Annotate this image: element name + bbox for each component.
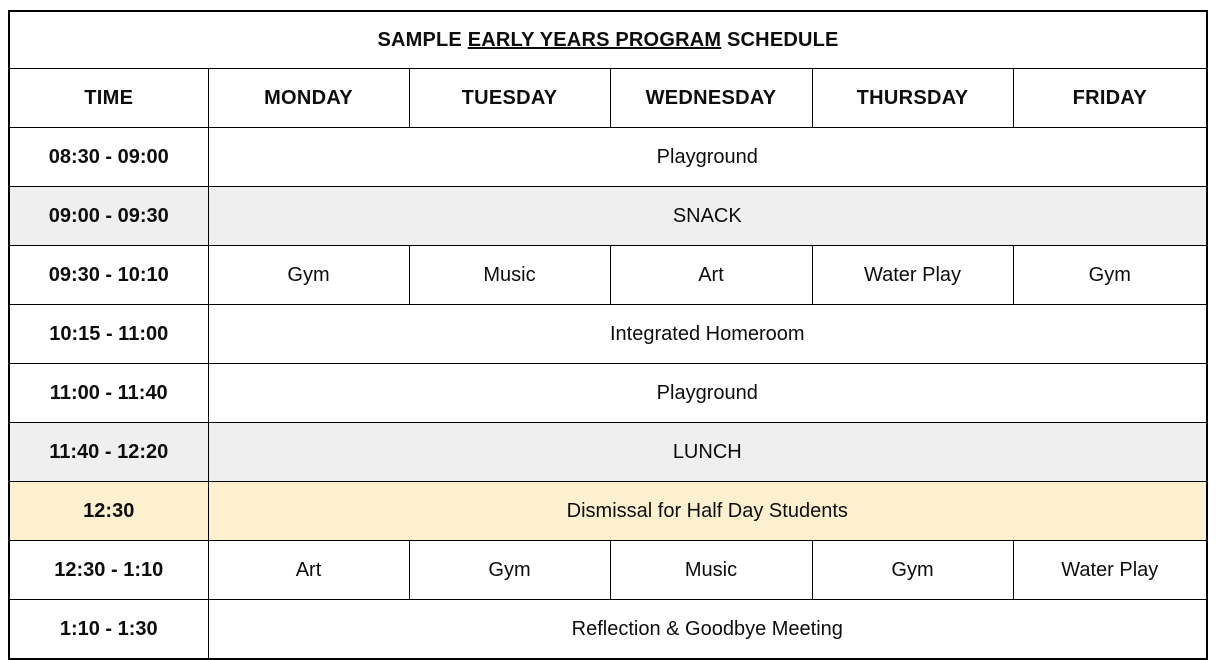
schedule-row: 08:30 - 09:00Playground <box>9 128 1207 187</box>
activity-cell-all-days: Reflection & Goodbye Meeting <box>208 600 1207 660</box>
schedule-container: SAMPLE EARLY YEARS PROGRAM SCHEDULE TIME… <box>8 10 1206 660</box>
schedule-row: 12:30 - 1:10ArtGymMusicGymWater Play <box>9 541 1207 600</box>
activity-cell-friday: Water Play <box>1013 541 1207 600</box>
schedule-row: 12:30Dismissal for Half Day Students <box>9 482 1207 541</box>
time-slot-label: 09:30 - 10:10 <box>9 246 208 305</box>
time-slot-label: 12:30 <box>9 482 208 541</box>
time-slot-label: 1:10 - 1:30 <box>9 600 208 660</box>
time-slot-label: 09:00 - 09:30 <box>9 187 208 246</box>
activity-cell-all-days: Playground <box>208 128 1207 187</box>
schedule-table-body: SAMPLE EARLY YEARS PROGRAM SCHEDULE TIME… <box>9 11 1207 659</box>
title-prefix: SAMPLE <box>377 29 467 51</box>
column-header-row: TIMEMONDAYTUESDAYWEDNESDAYTHURSDAYFRIDAY <box>9 69 1207 128</box>
activity-cell-all-days: Dismissal for Half Day Students <box>208 482 1207 541</box>
title-suffix: SCHEDULE <box>721 29 838 51</box>
activity-cell-all-days: LUNCH <box>208 423 1207 482</box>
column-header-time: TIME <box>9 69 208 128</box>
time-slot-label: 11:40 - 12:20 <box>9 423 208 482</box>
activity-cell-tuesday: Gym <box>409 541 610 600</box>
schedule-row: 10:15 - 11:00Integrated Homeroom <box>9 305 1207 364</box>
activity-cell-all-days: Integrated Homeroom <box>208 305 1207 364</box>
activity-cell-wednesday: Art <box>610 246 812 305</box>
time-slot-label: 11:00 - 11:40 <box>9 364 208 423</box>
activity-cell-monday: Gym <box>208 246 409 305</box>
time-slot-label: 10:15 - 11:00 <box>9 305 208 364</box>
schedule-row: 09:00 - 09:30SNACK <box>9 187 1207 246</box>
activity-cell-monday: Art <box>208 541 409 600</box>
column-header-thursday: THURSDAY <box>812 69 1013 128</box>
activity-cell-thursday: Gym <box>812 541 1013 600</box>
schedule-row: 09:30 - 10:10GymMusicArtWater PlayGym <box>9 246 1207 305</box>
activity-cell-friday: Gym <box>1013 246 1207 305</box>
column-header-wednesday: WEDNESDAY <box>610 69 812 128</box>
schedule-table: SAMPLE EARLY YEARS PROGRAM SCHEDULE TIME… <box>8 10 1208 660</box>
title-underlined-segment: EARLY YEARS PROGRAM <box>468 29 722 51</box>
schedule-title: SAMPLE EARLY YEARS PROGRAM SCHEDULE <box>9 11 1207 69</box>
time-slot-label: 12:30 - 1:10 <box>9 541 208 600</box>
time-slot-label: 08:30 - 09:00 <box>9 128 208 187</box>
title-row: SAMPLE EARLY YEARS PROGRAM SCHEDULE <box>9 11 1207 69</box>
activity-cell-wednesday: Music <box>610 541 812 600</box>
schedule-row: 1:10 - 1:30Reflection & Goodbye Meeting <box>9 600 1207 660</box>
column-header-tuesday: TUESDAY <box>409 69 610 128</box>
activity-cell-all-days: Playground <box>208 364 1207 423</box>
schedule-row: 11:00 - 11:40Playground <box>9 364 1207 423</box>
activity-cell-thursday: Water Play <box>812 246 1013 305</box>
schedule-row: 11:40 - 12:20LUNCH <box>9 423 1207 482</box>
activity-cell-tuesday: Music <box>409 246 610 305</box>
activity-cell-all-days: SNACK <box>208 187 1207 246</box>
column-header-monday: MONDAY <box>208 69 409 128</box>
column-header-friday: FRIDAY <box>1013 69 1207 128</box>
